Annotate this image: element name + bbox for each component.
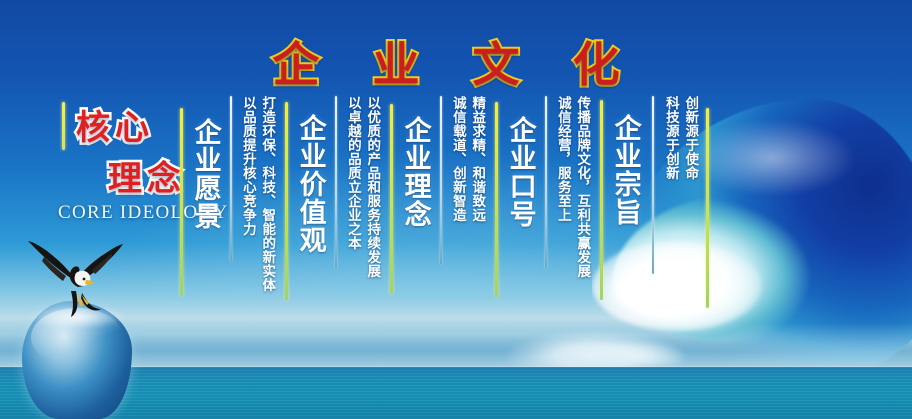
- column-4-title: 企业宗旨: [611, 114, 640, 242]
- column-企业口号: 传播品牌文化，互利共赢发展 诚信经营，服务至上 企业口号: [495, 96, 593, 326]
- column-4-inner-divider: [652, 96, 654, 274]
- column-2-sub1: 精益求精、和谐致远: [470, 96, 484, 218]
- column-3-title: 企业口号: [506, 116, 535, 244]
- column-2-inner-divider: [440, 96, 442, 264]
- column-企业理念: 精益求精、和谐致远 诚信载道、创新智造 企业理念: [390, 96, 488, 326]
- column-0-gold-divider: [180, 108, 183, 296]
- column-企业价值观: 以优质的产品和服务持续发展 以卓越的品质立企业之本 企业价值观: [285, 96, 383, 326]
- column-2-sub2: 诚信载道、创新智造: [451, 96, 465, 218]
- horizon-line: [0, 366, 912, 367]
- column-0-sub1: 打造环保、科技、智能的新实体: [260, 96, 274, 276]
- column-2-title: 企业理念: [401, 116, 430, 244]
- column-3-sub1: 传播品牌文化，互利共赢发展: [575, 96, 589, 271]
- column-3-gold-divider: [495, 102, 498, 297]
- core-ideology-accent-bar: [62, 102, 65, 150]
- column-1-sub2: 以卓越的品质立企业之本: [346, 96, 360, 248]
- column-1-gold-divider: [285, 102, 288, 300]
- column-4-sub2: 科技源于创新: [664, 96, 678, 191]
- column-企业宗旨: 创新源于使命 科技源于创新 企业宗旨: [600, 96, 701, 326]
- column-1-sub1: 以优质的产品和服务持续发展: [365, 96, 379, 264]
- column-0-inner-divider: [230, 96, 232, 261]
- column-0-sub2: 以品质提升核心竞争力: [241, 96, 255, 241]
- column-3-sub2: 诚信经营，服务至上: [556, 96, 570, 228]
- sea-surface: [0, 367, 912, 419]
- column-4-left-gold-divider: [600, 100, 603, 300]
- column-0-title: 企业愿景: [191, 118, 220, 246]
- rightmost-gold-divider: [706, 108, 709, 308]
- column-2-gold-divider: [390, 104, 393, 294]
- eagle-icon: [20, 239, 144, 323]
- column-1-inner-divider: [335, 96, 337, 268]
- 企业文化-poster: 企 业 文 化 核心 理念 CORE IDEOLOGY 打造环保、科技、智能的新…: [0, 0, 912, 419]
- column-企业愿景: 打造环保、科技、智能的新实体 以品质提升核心竞争力 企业愿景: [180, 96, 278, 326]
- column-1-title: 企业价值观: [296, 114, 325, 272]
- column-4-sub1: 创新源于使命: [683, 96, 697, 191]
- page-title: 企 业 文 化: [0, 26, 912, 95]
- column-3-inner-divider: [545, 96, 547, 268]
